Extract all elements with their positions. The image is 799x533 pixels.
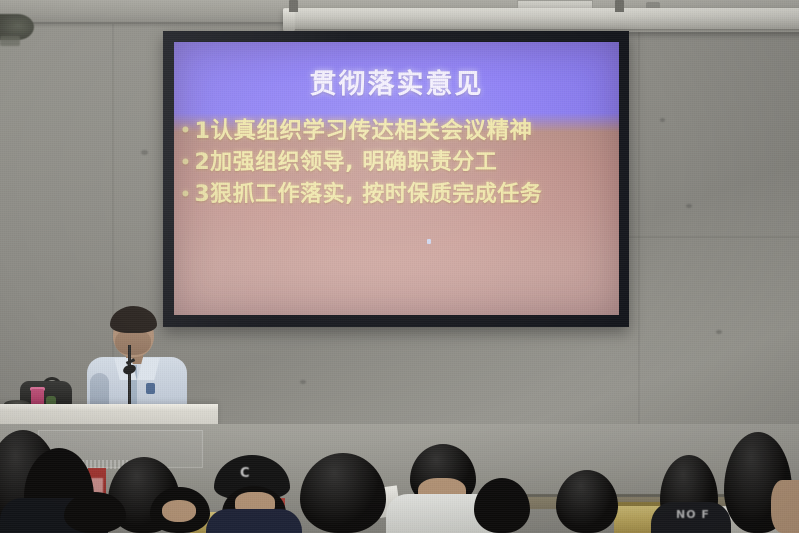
slide-bullet-text-2: 2加强组织领导, 明确职责分工 (194, 147, 497, 179)
wall-seam-horizontal (629, 236, 799, 238)
wall-scuff-center (300, 380, 306, 384)
bullet-marker-icon: • (180, 179, 194, 211)
slide-bullet-item-2: • 2加强组织领导, 明确职责分工 (180, 147, 615, 179)
slide-bullet-item-1: • 1认真组织学习传达相关会议精神 (180, 115, 615, 147)
shirt-print-text: NO F (676, 508, 710, 521)
dark-wall-fixture-shadow (0, 36, 20, 46)
roller-end-cap-left (283, 9, 295, 31)
audience-head (556, 470, 618, 533)
cap-print-text: C (240, 466, 249, 481)
audience-neck (771, 480, 799, 533)
hair-highlight (556, 470, 618, 533)
slide-bullet-list: • 1认真组织学习传达相关会议精神 • 2加强组织领导, 明确职责分工 • 3狠… (180, 115, 615, 211)
slide-bullet-text-1: 1认真组织学习传达相关会议精神 (194, 115, 532, 147)
microphone-stand (128, 345, 131, 409)
projection-screen: 贯彻落实意见 • 1认真组织学习传达相关会议精神 • 2加强组织领导, 明确职责… (163, 31, 629, 327)
wall-scuff (141, 150, 148, 155)
presenter-hair (110, 306, 157, 333)
bullet-marker-icon: • (180, 147, 194, 179)
audience-neck (162, 500, 196, 522)
wall-scuff-right-upper (660, 118, 665, 122)
presentation-slide: 贯彻落实意见 • 1认真组织学习传达相关会议精神 • 2加强组织领导, 明确职责… (174, 42, 619, 315)
slide-title: 贯彻落实意见 (174, 62, 619, 101)
audience-head (64, 492, 126, 533)
presenter-badge (146, 383, 155, 394)
audience-shirt-navy (206, 509, 302, 533)
slide-bullet-item-3: • 3狠抓工作落实, 按时保质完成任务 (180, 179, 615, 211)
bullet-marker-icon: • (180, 115, 194, 147)
wall-scuff-right (686, 204, 692, 208)
audience-head (474, 478, 530, 533)
podium-top-surface (0, 404, 218, 412)
wall-seam-vertical (638, 24, 640, 424)
lecture-hall-photo: 贯彻落实意见 • 1认真组织学习传达相关会议精神 • 2加强组织领导, 明确职责… (0, 0, 799, 533)
slide-bullet-text-3: 3狠抓工作落实, 按时保质完成任务 (194, 179, 542, 211)
mouse-cursor-speck (427, 239, 431, 244)
roller-bracket-left (289, 0, 298, 12)
wall-scuff-lower (716, 330, 722, 334)
roller-bracket-right (615, 0, 624, 12)
